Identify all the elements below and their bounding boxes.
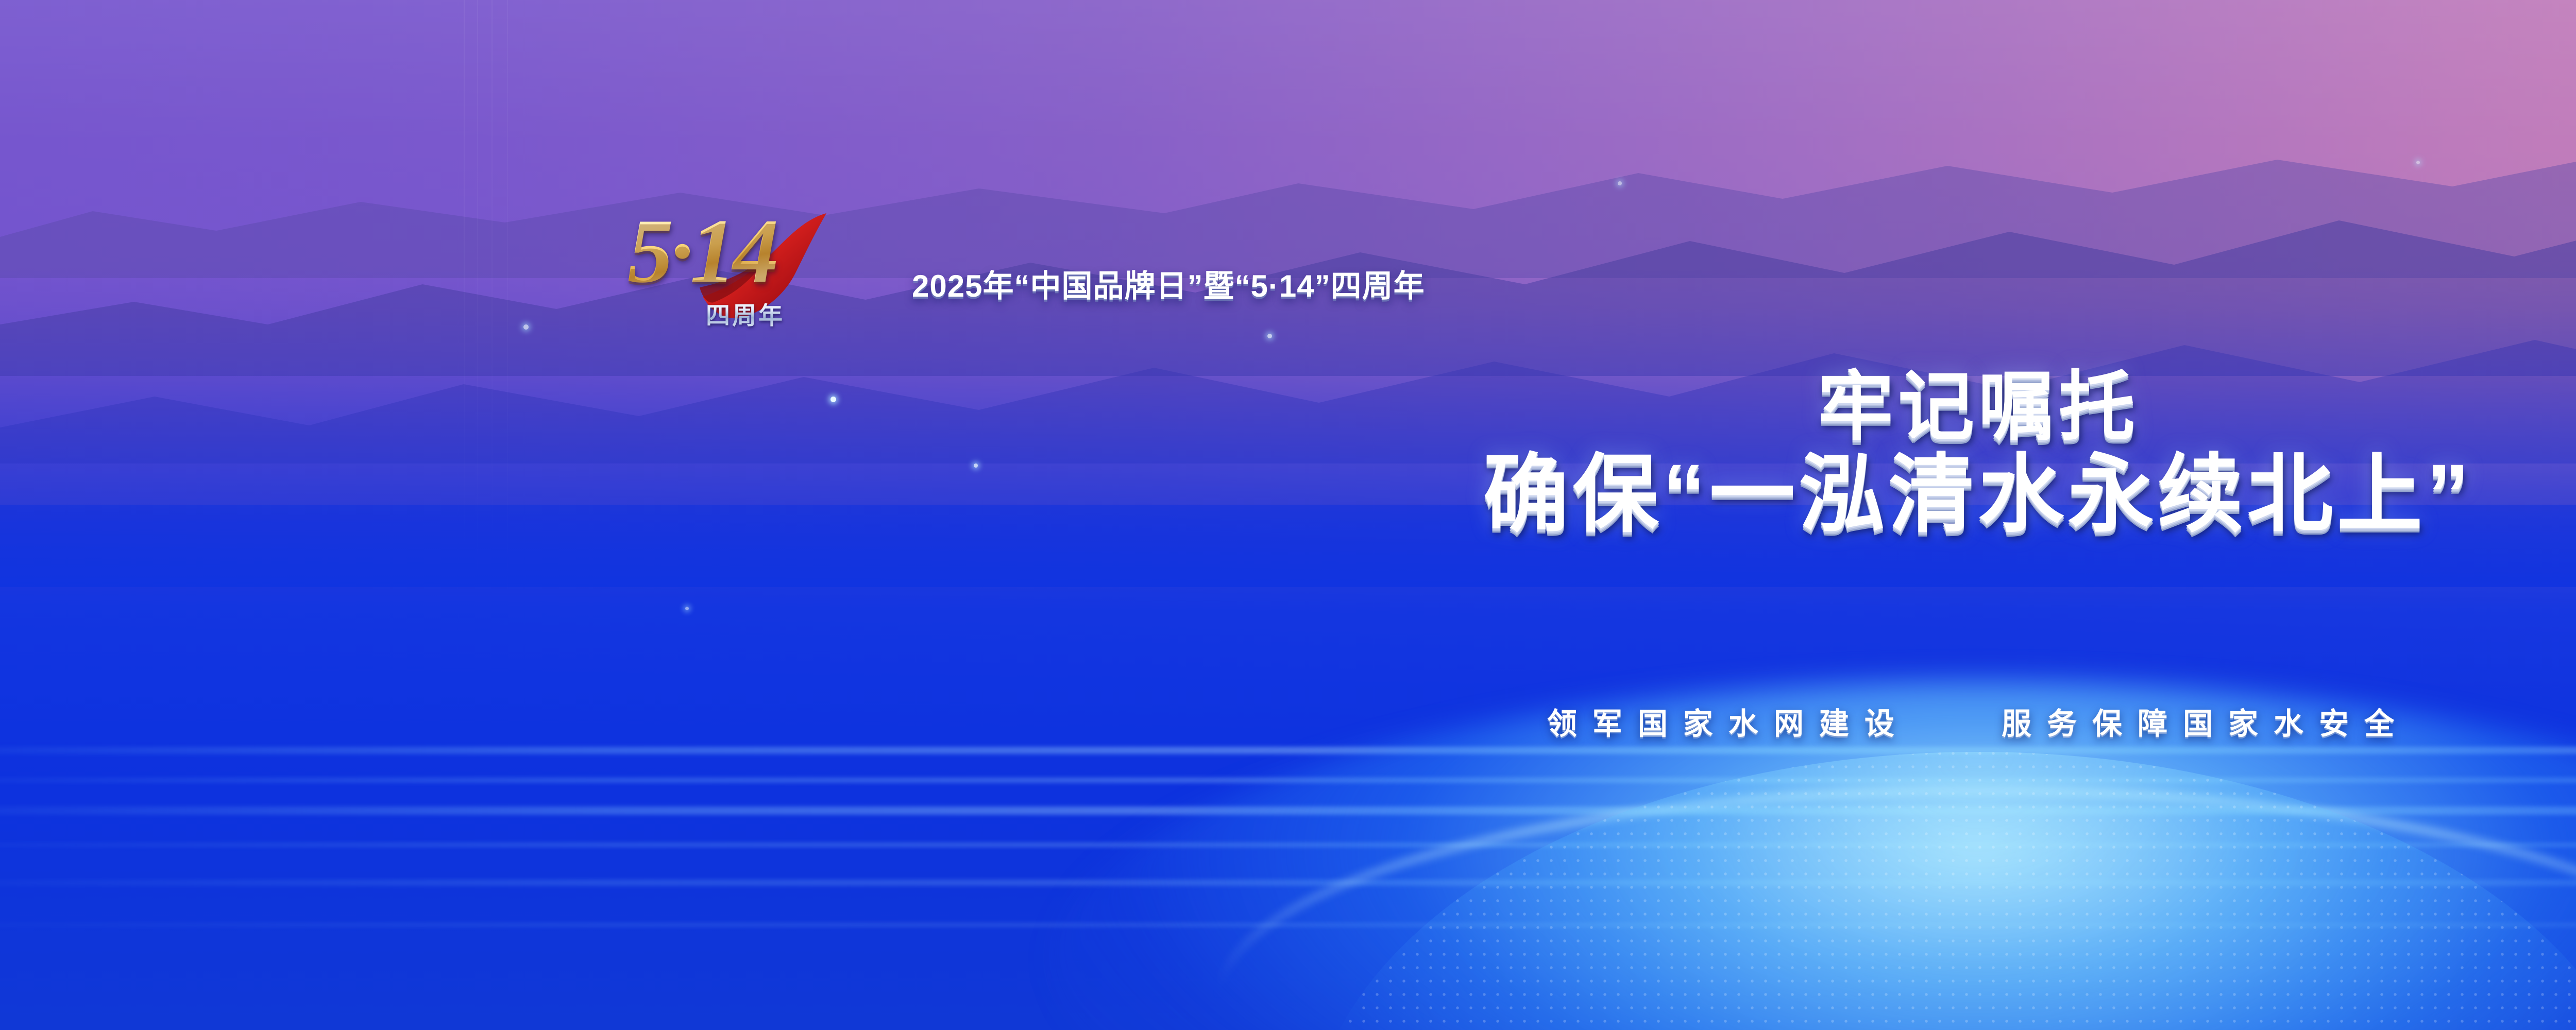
anniversary-badge: 5·14 四周年 xyxy=(628,205,844,334)
badge-number: 5·14 xyxy=(628,205,776,297)
banner-subtitle: 领军国家水网建设 服务保障国家水安全 xyxy=(0,699,2576,743)
badge-anniversary-label: 四周年 xyxy=(706,296,785,331)
main-headline: 牢记嘱托 确保“一泓清水永续北上” xyxy=(0,369,2576,540)
event-title: 2025年“中国品牌日”暨“5·14”四周年 xyxy=(912,261,1425,306)
headline-line-1: 牢记嘱托 xyxy=(0,369,2576,447)
banner-content: 5·14 四周年 2025年“中国品牌日”暨“5·14”四周年 中国南水北调 xyxy=(0,0,2576,1030)
banner-stage: 5·14 四周年 2025年“中国品牌日”暨“5·14”四周年 中国南水北调 xyxy=(0,0,2576,1030)
headline-line-2: 确保“一泓清水永续北上” xyxy=(0,450,2576,540)
subtitle-right: 服务保障国家水安全 xyxy=(2002,707,2410,741)
subtitle-left: 领军国家水网建设 xyxy=(1547,707,1910,741)
